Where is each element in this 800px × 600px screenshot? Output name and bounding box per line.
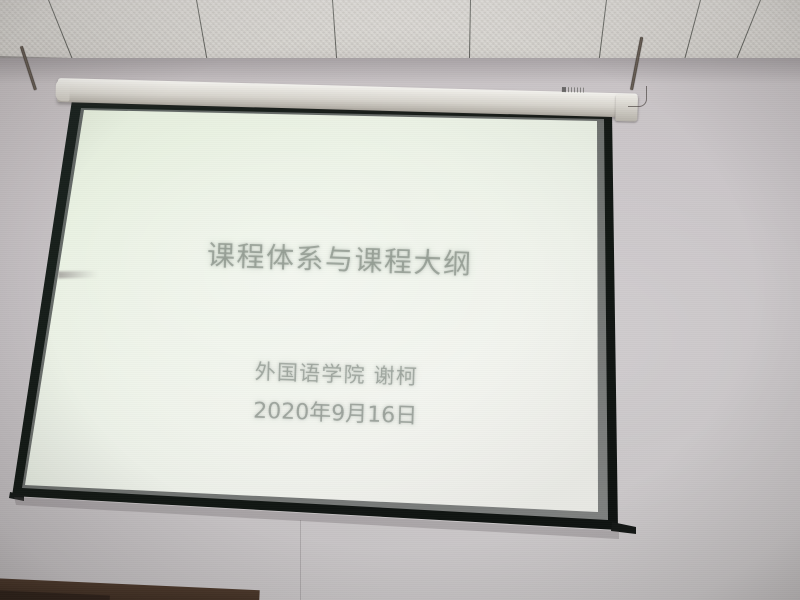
slide-content: 课程体系与课程大纲 外国语学院 谢柯 2020年9月16日 — [87, 112, 590, 507]
housing-end-cap-left — [55, 79, 70, 101]
classroom-photo: 课程体系与课程大纲 外国语学院 谢柯 2020年9月16日 — [0, 0, 800, 600]
screen-crease-artifact — [58, 271, 98, 279]
slide-title: 课程体系与课程大纲 — [93, 230, 586, 287]
housing-brand-label — [562, 87, 584, 93]
housing-power-wire — [628, 86, 647, 107]
slide-date: 2020年9月16日 — [89, 387, 582, 436]
